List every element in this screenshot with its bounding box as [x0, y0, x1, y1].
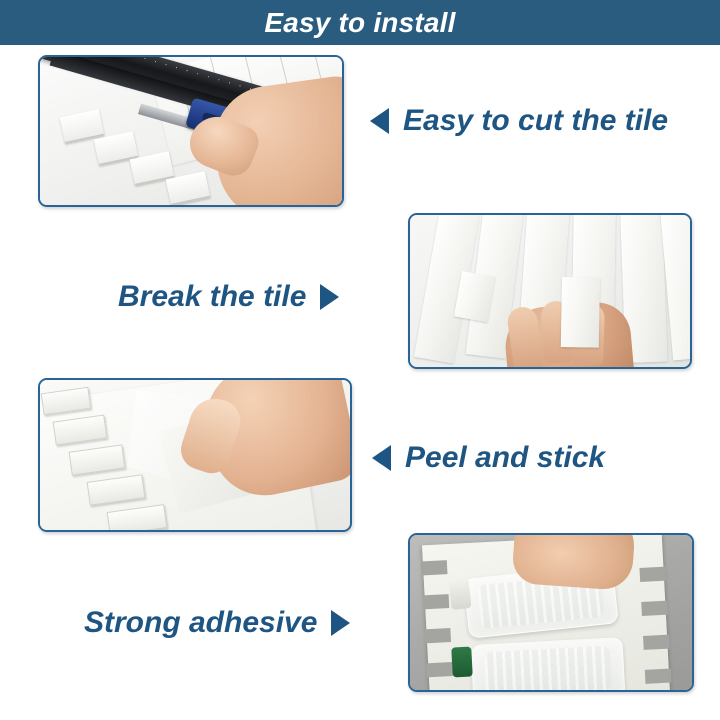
header-bar: Easy to install [0, 0, 720, 45]
bottle-cap [451, 646, 473, 677]
photo-break-scene [410, 215, 690, 367]
photo-cut-scene [40, 57, 342, 205]
tile-notch [645, 669, 672, 684]
tile-strip-front [561, 277, 600, 348]
step-photo-strong-adhesive [408, 533, 694, 692]
tile-notch [423, 594, 450, 609]
caption-cut: Easy to cut the tile [370, 106, 668, 136]
caption-break-label: Break the tile [118, 282, 306, 312]
tile-notch [424, 628, 451, 643]
page-title: Easy to install [264, 9, 455, 37]
hand [511, 535, 636, 591]
caption-strong-adhesive-label: Strong adhesive [84, 608, 317, 638]
triangle-right-icon [320, 284, 339, 310]
tile-notch [639, 567, 666, 582]
photo-adhesive-scene [410, 535, 692, 690]
step-photo-cut [38, 55, 344, 207]
tile-notch [643, 635, 670, 650]
photo-peel-scene [40, 380, 350, 530]
triangle-left-icon [372, 445, 391, 471]
bottle-cap [448, 578, 471, 610]
caption-peel-label: Peel and stick [405, 443, 605, 473]
tile-notch [641, 601, 668, 616]
caption-cut-label: Easy to cut the tile [403, 106, 668, 136]
tile-notch [421, 560, 448, 575]
caption-break: Break the tile [118, 282, 339, 312]
caption-peel: Peel and stick [372, 443, 605, 473]
tile-notch [426, 662, 453, 677]
step-photo-peel [38, 378, 352, 532]
step-photo-break [408, 213, 692, 369]
triangle-left-icon [370, 108, 389, 134]
water-bottle [471, 637, 626, 690]
caption-strong-adhesive: Strong adhesive [84, 608, 350, 638]
triangle-right-icon [331, 610, 350, 636]
